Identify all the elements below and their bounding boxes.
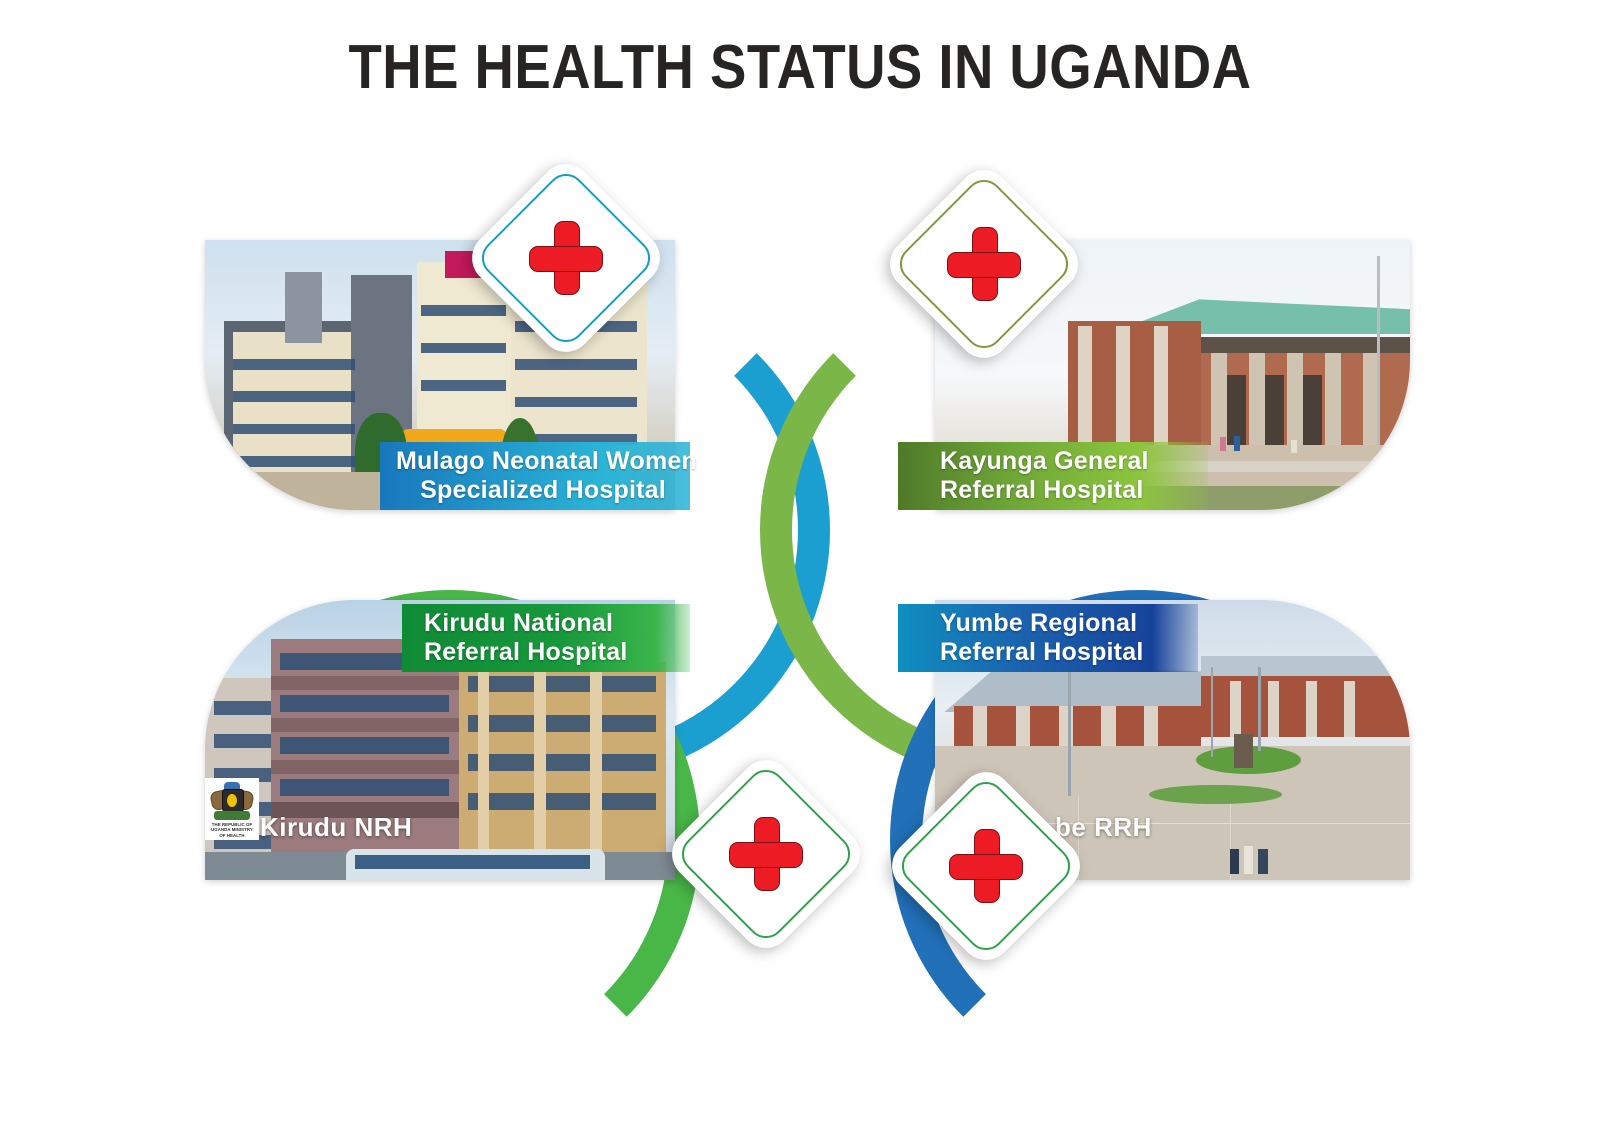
photo-watermark-kirudu: Kirudu NRH <box>260 812 412 843</box>
uganda-coat-of-arms-emblem: THE REPUBLIC OF UGANDA MINISTRY OF HEALT… <box>205 778 259 840</box>
hospital-name-line1: Kayunga General <box>940 447 1208 477</box>
hospital-name-line2: Referral Hospital <box>940 638 1198 668</box>
photo-watermark-yumbe: be RRH <box>1055 812 1152 843</box>
medical-cross-icon <box>947 227 1021 301</box>
hospital-label-kayunga: Kayunga General Referral Hospital <box>898 442 1208 510</box>
hospital-name-line2: Referral Hospital <box>424 638 690 668</box>
hospital-panel-kayunga[interactable]: Kayunga General Referral Hospital <box>890 220 1410 540</box>
medical-cross-icon <box>949 829 1023 903</box>
hospital-name-line2: Specialized Hospital <box>396 476 690 506</box>
hospital-label-kirudu: Kirudu National Referral Hospital <box>402 604 690 672</box>
hospital-gallery: Mulago Neonatal Women Specialized Hospit… <box>0 0 1600 1130</box>
hospital-panel-kirudu[interactable]: Kirudu National Referral Hospital THE RE… <box>180 580 700 880</box>
emblem-caption: THE REPUBLIC OF UGANDA MINISTRY OF HEALT… <box>208 822 256 838</box>
hospital-panel-mulago[interactable]: Mulago Neonatal Women Specialized Hospit… <box>180 220 700 540</box>
hospital-label-yumbe: Yumbe Regional Referral Hospital <box>898 604 1198 672</box>
coat-of-arms-icon <box>211 782 253 820</box>
hospital-label-mulago: Mulago Neonatal Women Specialized Hospit… <box>380 442 690 510</box>
hospital-name-line1: Mulago Neonatal Women <box>396 447 690 477</box>
medical-cross-icon <box>529 221 603 295</box>
medical-cross-icon <box>729 817 803 891</box>
hospital-name-line1: Yumbe Regional <box>940 609 1198 639</box>
hospital-name-line1: Kirudu National <box>424 609 690 639</box>
hospital-panel-yumbe[interactable]: Yumbe Regional Referral Hospital be RRH <box>890 580 1410 880</box>
hospital-name-line2: Referral Hospital <box>940 476 1208 506</box>
